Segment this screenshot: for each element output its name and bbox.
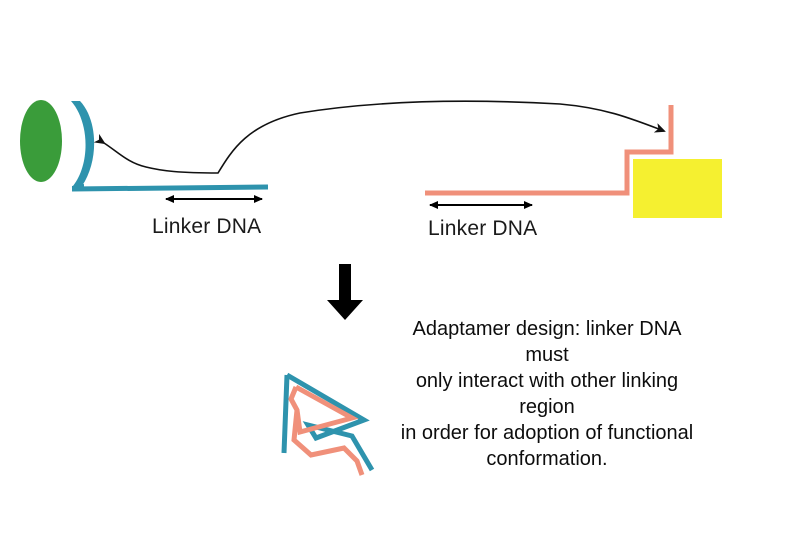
green-target-protein	[20, 100, 62, 182]
folded-aptamer-conformation	[284, 375, 372, 475]
interaction-curve	[104, 101, 664, 173]
caption-line: only interact with other linking region	[396, 368, 698, 420]
caption-line: in order for adoption of functional	[396, 420, 698, 446]
transition-arrow	[327, 264, 363, 320]
teal-linker-strand	[72, 187, 268, 189]
caption-block: Adaptamer design: linker DNA must only i…	[396, 316, 698, 472]
caption-line: Adaptamer design: linker DNA must	[396, 316, 698, 368]
linker-dna-label-left: Linker DNA	[152, 215, 261, 239]
teal-aptamer-binding-arm	[71, 101, 94, 186]
diagram-canvas: Linker DNA Linker DNA Adaptamer design: …	[0, 0, 800, 533]
yellow-target-molecule	[633, 159, 722, 218]
linker-dna-label-right: Linker DNA	[428, 217, 537, 241]
caption-line: conformation.	[396, 446, 698, 472]
